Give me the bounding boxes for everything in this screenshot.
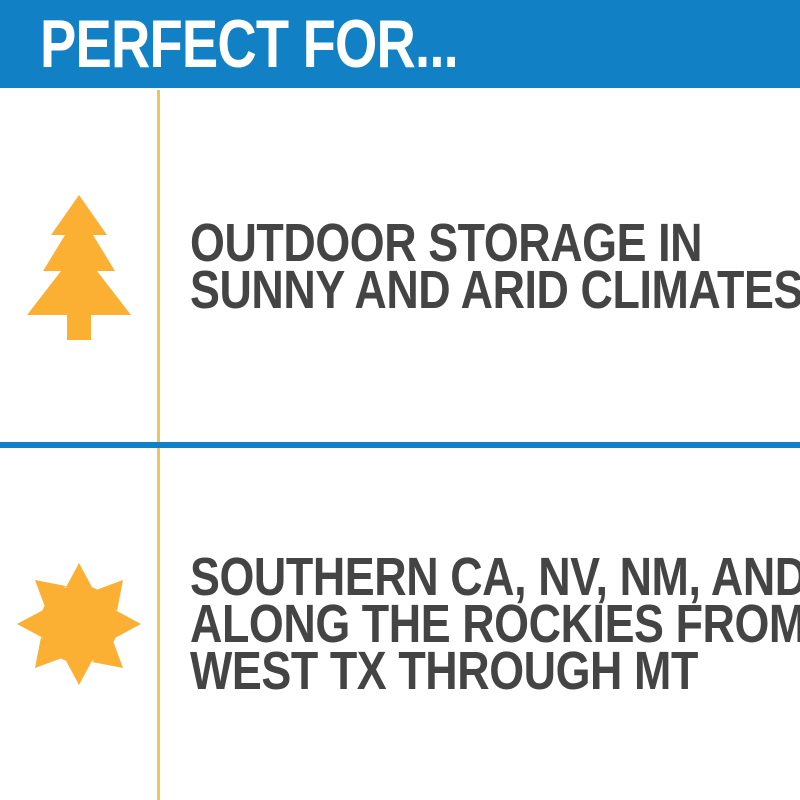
perfect-for-infographic: PERFECT FOR... OUTDOOR STORAGE IN SUNNY …: [0, 0, 800, 800]
sun-icon: [17, 563, 141, 685]
icon-cell-regions: [0, 448, 157, 800]
header-banner: PERFECT FOR...: [0, 0, 800, 88]
page-title: PERFECT FOR...: [40, 10, 458, 78]
feature-text-regions: SOUTHERN CA, NV, NM, AND ALONG THE ROCKI…: [190, 554, 800, 695]
feature-row-regions: SOUTHERN CA, NV, NM, AND ALONG THE ROCKI…: [0, 448, 800, 800]
section-divider-horizontal: [0, 442, 800, 448]
feature-row-outdoor-storage: OUTDOOR STORAGE IN SUNNY AND ARID CLIMAT…: [0, 92, 800, 442]
feature-line: SUNNY AND ARID CLIMATES: [190, 267, 800, 314]
feature-line: WEST TX THROUGH MT: [190, 648, 800, 695]
icon-cell-outdoor-storage: [0, 92, 157, 442]
text-cell-outdoor-storage: OUTDOOR STORAGE IN SUNNY AND ARID CLIMAT…: [157, 220, 800, 314]
text-cell-regions: SOUTHERN CA, NV, NM, AND ALONG THE ROCKI…: [157, 554, 800, 695]
feature-text-outdoor-storage: OUTDOOR STORAGE IN SUNNY AND ARID CLIMAT…: [190, 220, 800, 314]
pine-tree-icon: [23, 195, 135, 340]
